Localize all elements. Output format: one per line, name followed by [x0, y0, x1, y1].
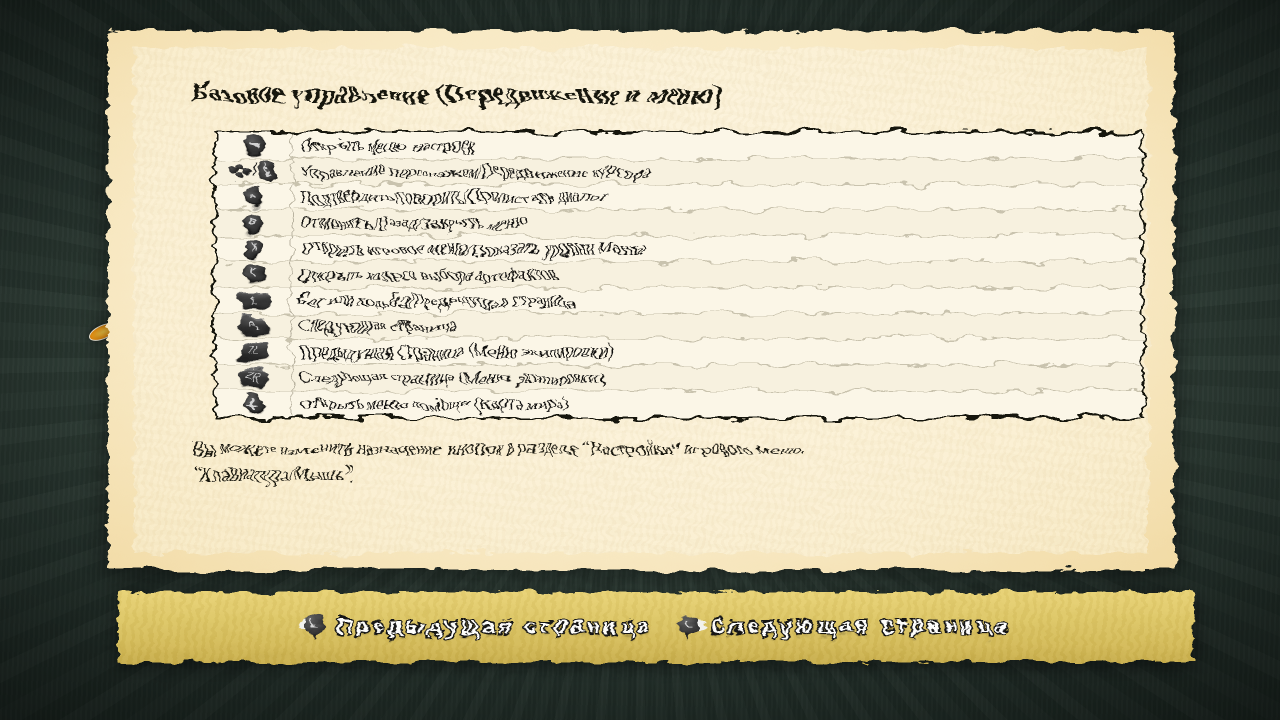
panel-content: Базовое управление (Передвижение и меню)…: [108, 31, 1174, 570]
bottom-hint-label: Предыдущая страница: [337, 615, 654, 639]
face-button-glyph: X: [244, 239, 264, 259]
control-icon-cell: X: [216, 236, 292, 261]
note-line: “Клавиатура/Мышь”.: [192, 461, 1134, 487]
control-label: Бег или ходьба/Предыдущая страница: [292, 292, 1142, 309]
note-text: Вы можете изменить назначение кнопок в р…: [192, 435, 1134, 487]
control-label: Открыть меню помощи (Карта мира): [292, 395, 1142, 412]
help-parchment-panel: Базовое управление (Передвижение и меню)…: [108, 31, 1174, 570]
face-button-glyph: B: [244, 213, 264, 233]
plus-button-icon: [244, 394, 264, 414]
shoulder-button-glyph: L: [239, 292, 269, 309]
icon-separator: /: [252, 161, 257, 181]
control-icon-cell: L: [216, 288, 292, 313]
left-stick-right-icon: L: [676, 614, 702, 640]
control-label: Управление персонажем/Передвижение курсо…: [292, 163, 1142, 180]
control-row: RСледующая страница: [216, 314, 1142, 340]
control-icon-cell: [216, 391, 292, 417]
control-label: Следующая страница (Меню экипировки): [292, 369, 1142, 386]
control-icon-cell: [216, 133, 292, 158]
control-label: Открыть меню настроек: [292, 137, 1142, 154]
control-icon-cell: ZL: [216, 339, 292, 364]
left-stick-icon: L: [258, 161, 278, 182]
control-label: Открыть игровое меню/Показать уровни Ман…: [292, 240, 1142, 257]
bottom-hint-bar: LПредыдущая страницаLСледующая страница: [118, 592, 1194, 662]
note-line: Вы можете изменить назначение кнопок в р…: [192, 435, 1134, 461]
plus-glyph: [244, 394, 264, 414]
bottom-hint[interactable]: LСледующая страница: [676, 614, 1011, 640]
page-title: Базовое управление (Передвижение и меню): [192, 79, 1134, 109]
control-icon-cell: ZR: [216, 365, 292, 390]
control-row: ZLПредыдущая страница (Меню экипировки): [216, 339, 1142, 365]
zr-trigger-button-icon: ZR: [239, 369, 269, 386]
control-icon-cell: A: [216, 185, 292, 210]
zl-trigger-button-icon: ZL: [239, 343, 269, 360]
control-icon-cell: Y: [216, 262, 292, 287]
y-button-icon: Y: [244, 264, 264, 284]
direction-arrow-right-icon: [698, 620, 705, 630]
control-label: Открыть колесо выбора артефактов: [292, 266, 1142, 283]
shoulder-button-glyph: ZL: [239, 343, 269, 360]
dpad-icon: [229, 161, 251, 181]
bottom-bar-grain: [118, 592, 1194, 662]
control-label: Подтвердить/Говорить/Пролистать диалог: [292, 188, 1142, 205]
left-stick-left-icon: L: [302, 614, 328, 640]
shoulder-button-glyph: R: [239, 317, 269, 334]
control-label: Предыдущая страница (Меню экипировки): [292, 343, 1142, 360]
face-button-glyph: A: [244, 187, 264, 207]
control-label: Следующая страница: [292, 317, 1142, 334]
minus-glyph: [244, 135, 264, 155]
control-row: LБег или ходьба/Предыдущая страница: [216, 288, 1142, 314]
control-row: Открыть меню настроек: [216, 133, 1142, 159]
control-row: BОтменить/Назад/Закрыть меню: [216, 210, 1142, 236]
minus-button-icon: [244, 135, 264, 155]
controls-table: Открыть меню настроек/LУправление персон…: [214, 131, 1144, 419]
face-button-glyph: Y: [244, 264, 264, 284]
direction-arrow-left-icon: [299, 620, 306, 630]
control-row: AПодтвердить/Говорить/Пролистать диалог: [216, 185, 1142, 211]
control-row: YОткрыть колесо выбора артефактов: [216, 262, 1142, 288]
r-shoulder-button-icon: R: [239, 317, 269, 334]
shoulder-button-glyph: ZR: [239, 369, 269, 386]
control-row: XОткрыть игровое меню/Показать уровни Ма…: [216, 236, 1142, 262]
control-row: /LУправление персонажем/Передвижение кур…: [216, 159, 1142, 185]
control-row: Открыть меню помощи (Карта мира): [216, 391, 1142, 417]
dpad-and-left-stick-icon: /L: [229, 161, 278, 182]
a-button-icon: A: [244, 187, 264, 207]
b-button-icon: B: [244, 213, 264, 233]
control-icon-cell: B: [216, 210, 292, 235]
l-shoulder-button-icon: L: [239, 292, 269, 309]
control-icon-cell: /L: [216, 159, 292, 184]
x-button-icon: X: [244, 239, 264, 259]
bottom-hint[interactable]: LПредыдущая страница: [302, 614, 654, 640]
control-label: Отменить/Назад/Закрыть меню: [292, 214, 1142, 231]
bottom-hint-label: Следующая страница: [711, 615, 1011, 639]
control-icon-cell: R: [216, 314, 292, 339]
control-row: ZRСледующая страница (Меню экипировки): [216, 365, 1142, 391]
